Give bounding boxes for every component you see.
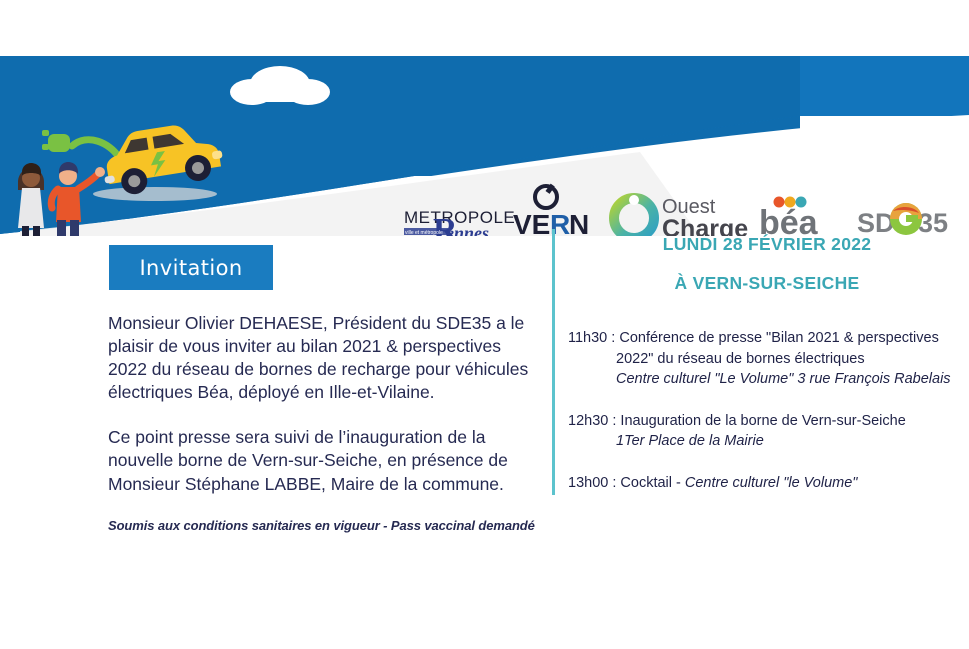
body-paragraph-2: Ce point presse sera suivi de l’inaugura… — [108, 426, 538, 495]
svg-text:35: 35 — [918, 208, 948, 236]
svg-text:VE: VE — [513, 209, 550, 236]
svg-text:béa: béa — [759, 204, 819, 236]
schedule-item: 11h30 : Conférence de presse "Bilan 2021… — [568, 328, 966, 390]
schedule-item: 12h30 : Inauguration de la borne de Vern… — [568, 411, 966, 452]
schedule-list: 11h30 : Conférence de presse "Bilan 2021… — [568, 328, 966, 493]
car-shadow — [93, 187, 217, 201]
schedule-item-title: Cocktail - — [620, 475, 684, 491]
body-paragraph-1: Monsieur Olivier DEHAESE, Président du S… — [108, 312, 538, 404]
left-content-column: Monsieur Olivier DEHAESE, Président du S… — [108, 312, 538, 533]
header-banner: METROPOLE ennes R ville et métropole VE … — [0, 56, 969, 236]
svg-text:ville et métropole: ville et métropole — [405, 230, 443, 236]
schedule-item-primary: 12h30 : Inauguration de la borne de Vern… — [568, 411, 966, 432]
schedule-item-title-cont: 2022" du réseau de bornes électriques — [568, 349, 966, 370]
invitation-badge: Invitation — [109, 245, 273, 290]
schedule-item-primary: 13h00 : Cocktail - Centre culturel "le V… — [568, 473, 966, 494]
right-content-column: LUNDI 28 FÉVRIER 2022 À VERN-SUR-SEICHE … — [568, 234, 966, 514]
svg-text:N: N — [569, 209, 589, 236]
banner-graphic: METROPOLE ennes R ville et métropole VE … — [0, 56, 969, 236]
health-conditions-note: Soumis aux conditions sanitaires en vigu… — [108, 518, 538, 533]
schedule-item-time: 11h30 : — [568, 330, 619, 346]
schedule-item-venue: 1Ter Place de la Mairie — [568, 431, 966, 452]
svg-text:Charge: Charge — [662, 215, 748, 236]
schedule-item-venue: Centre culturel "le Volume" — [685, 475, 858, 491]
svg-text:SD: SD — [857, 208, 895, 236]
schedule-item: 13h00 : Cocktail - Centre culturel "le V… — [568, 473, 966, 494]
woman-figure-icon — [18, 163, 44, 236]
vertical-divider — [552, 229, 555, 495]
schedule-item-primary: 11h30 : Conférence de presse "Bilan 2021… — [568, 328, 966, 349]
schedule-item-title: Conférence de presse "Bilan 2021 & persp… — [619, 330, 939, 346]
schedule-item-title: Inauguration de la borne de Vern-sur-Sei… — [620, 413, 905, 429]
schedule-item-venue: Centre culturel "Le Volume" 3 rue Franço… — [568, 369, 966, 390]
event-date: LUNDI 28 FÉVRIER 2022 — [568, 234, 966, 255]
schedule-item-time: 13h00 : — [568, 475, 620, 491]
schedule-item-time: 12h30 : — [568, 413, 620, 429]
invitation-badge-label: Invitation — [139, 256, 242, 280]
event-place: À VERN-SUR-SEICHE — [568, 273, 966, 294]
